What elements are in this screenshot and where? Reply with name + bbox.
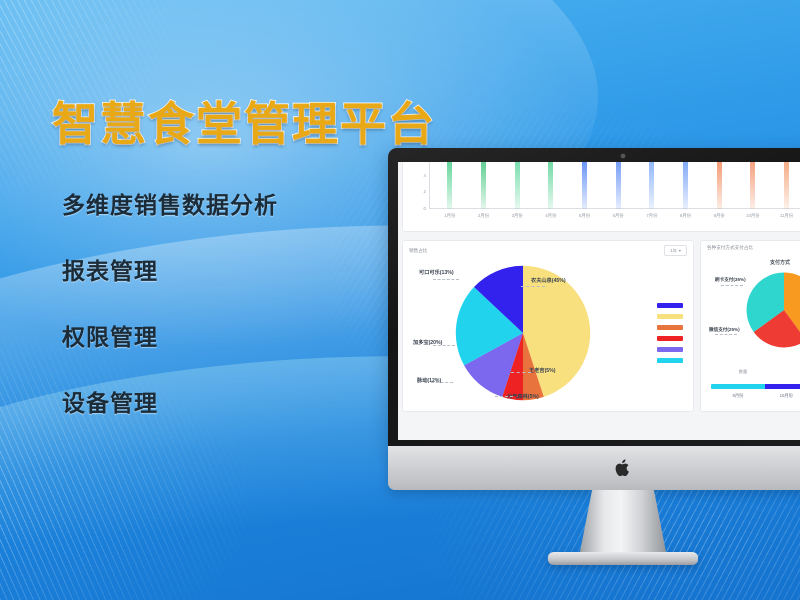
sales-pie-svg — [453, 263, 593, 403]
chevron-down-icon: ▾ — [679, 248, 681, 253]
x-axis-label: 7月份 — [646, 213, 657, 219]
bar — [548, 162, 553, 209]
legend-swatch[interactable] — [657, 303, 683, 308]
payment-pie-svg — [745, 271, 800, 349]
pie-label-leader-line — [431, 382, 453, 383]
y-axis-tick: 0 — [424, 207, 426, 211]
bar — [616, 162, 621, 209]
legend-swatch[interactable] — [657, 358, 683, 363]
feature-item-device-management: 设备管理 — [62, 384, 362, 418]
payment-slice-label: 微信支付(25%) — [709, 327, 740, 333]
month-bar-labels: 9月份10月份11月份 — [711, 393, 800, 401]
pie-slice-label: 王老吉(5%) — [529, 367, 556, 374]
bar — [717, 162, 722, 209]
y-axis-tick: 2 — [424, 190, 426, 194]
sales-share-card: 销售占比 1年 ▾ 农夫山泉(45%)王老吉(5%)元气森林(5%)脉动(12%… — [402, 240, 694, 412]
pie-label-leader-line — [511, 372, 531, 373]
bar — [649, 162, 654, 209]
month-stacked-bar — [711, 384, 800, 389]
bar — [784, 162, 789, 209]
month-bar-segment[interactable] — [765, 384, 800, 389]
monthly-bar-chart-card: 024681月份2月份3月份4月份5月份6月份7月份8月份9月份10月份11月份… — [402, 162, 800, 232]
sales-pie-chart: 农夫山泉(45%)王老吉(5%)元气森林(5%)脉动(12%)加多宝(20%)可… — [403, 255, 693, 411]
x-axis-label: 2月份 — [478, 213, 489, 219]
payment-card-header: 各种支付方式支付占比 — [701, 241, 800, 251]
pie-label-leader-line — [433, 345, 455, 346]
month-bar-label: 9月份 — [732, 393, 743, 399]
apple-logo-icon — [615, 458, 632, 478]
range-select-label: 1年 — [670, 248, 677, 254]
legend-swatch[interactable] — [657, 325, 683, 330]
payment-slice-label: 刷卡支付(35%) — [715, 277, 746, 283]
monitor-screen: 024681月份2月份3月份4月份5月份6月份7月份8月份9月份10月份11月份… — [398, 162, 800, 440]
pie-label-leader-line — [433, 279, 459, 280]
imac-mockup: 024681月份2月份3月份4月份5月份6月份7月份8月份9月份10月份11月份… — [388, 148, 800, 565]
feature-item-sales-analysis: 多维度销售数据分析 — [62, 186, 362, 220]
y-axis-line — [429, 162, 430, 209]
bar — [515, 162, 520, 209]
pie-label-leader-line — [495, 396, 513, 397]
legend-swatch[interactable] — [657, 347, 683, 352]
x-axis-label: 1月份 — [444, 213, 455, 219]
feature-item-report-management: 报表管理 — [62, 252, 362, 286]
page-title: 智慧食堂管理平台 — [52, 88, 436, 154]
legend-swatch[interactable] — [657, 314, 683, 319]
sales-share-title: 销售占比 — [409, 248, 427, 254]
x-axis-label: 11月份 — [780, 213, 793, 219]
month-bar-label: 10月份 — [780, 393, 793, 399]
y-axis-tick: 4 — [424, 174, 426, 178]
bar — [481, 162, 486, 209]
pie-slice-label: 可口可乐(13%) — [419, 269, 454, 276]
monitor-stand-base — [548, 552, 698, 565]
payment-chart-title: 支付方式 — [701, 259, 800, 266]
feature-list: 多维度销售数据分析 报表管理 权限管理 设备管理 — [62, 186, 362, 418]
feature-item-permission-management: 权限管理 — [62, 318, 362, 352]
x-axis-label: 8月份 — [680, 213, 691, 219]
x-axis-label: 6月份 — [613, 213, 624, 219]
pie-label-leader-line — [521, 286, 545, 287]
monitor-stand-neck — [580, 490, 666, 552]
payment-footer-label: 数量 — [739, 369, 747, 375]
payment-method-card: 各种支付方式支付占比 支付方式 数量单量(元) 9月份10月份11月份 人民币(… — [700, 240, 800, 412]
x-axis-label: 3月份 — [512, 213, 523, 219]
monthly-bar-plot: 024681月份2月份3月份4月份5月份6月份7月份8月份9月份10月份11月份… — [429, 162, 800, 209]
sales-share-card-header: 销售占比 1年 ▾ — [403, 241, 693, 256]
x-axis-label: 4月份 — [545, 213, 556, 219]
x-axis-label: 9月份 — [714, 213, 725, 219]
payment-label-leader-line — [715, 334, 737, 335]
payment-label-leader-line — [721, 285, 743, 286]
monitor-chin — [388, 446, 800, 490]
x-axis-label: 5月份 — [579, 213, 590, 219]
bar — [447, 162, 452, 209]
webcam-dot-icon — [621, 154, 625, 158]
month-bar-segment[interactable] — [711, 384, 765, 389]
x-axis-label: 10月份 — [746, 213, 760, 219]
sales-pie-legend — [657, 303, 683, 369]
bar — [683, 162, 688, 209]
bar — [750, 162, 755, 209]
legend-swatch[interactable] — [657, 336, 683, 341]
bar — [582, 162, 587, 209]
payment-card-title: 各种支付方式支付占比 — [707, 245, 753, 251]
pie-slice-label: 农夫山泉(45%) — [531, 277, 566, 284]
monitor-bezel: 024681月份2月份3月份4月份5月份6月份7月份8月份9月份10月份11月份… — [388, 148, 800, 446]
